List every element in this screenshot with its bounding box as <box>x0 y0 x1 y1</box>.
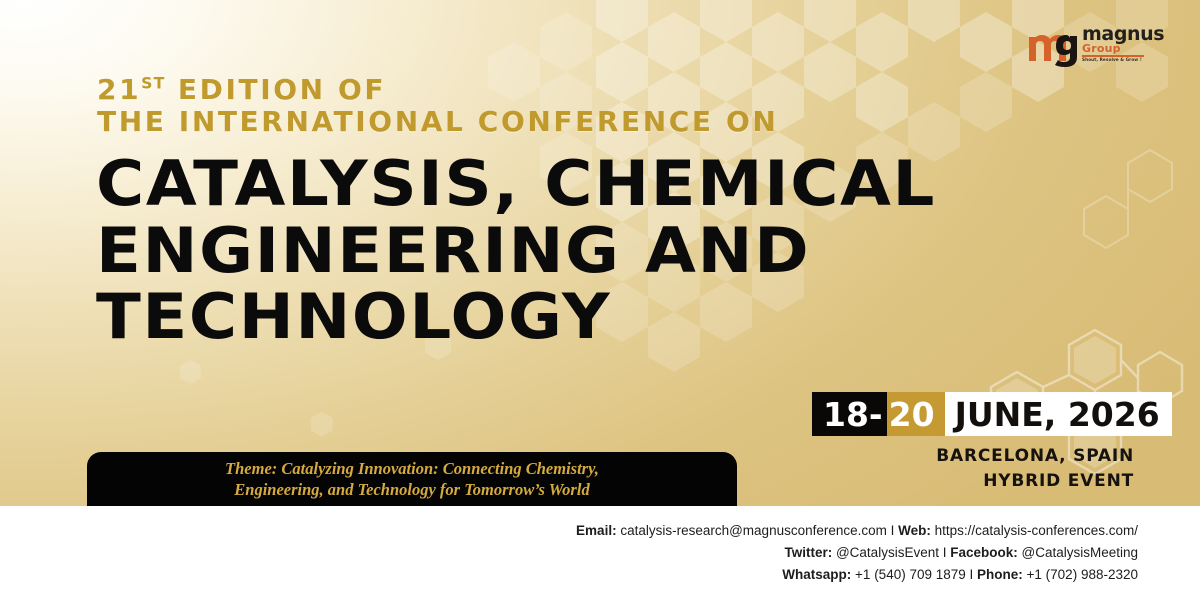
logo-subname: Group <box>1082 43 1164 54</box>
kicker-edition-number: 21 <box>97 73 141 106</box>
theme-text: Theme: Catalyzing Innovation: Connecting… <box>225 458 599 501</box>
web-value[interactable]: https://catalysis-conferences.com/ <box>931 523 1138 538</box>
event-date-block: 18- 20 JUNE, 2026 <box>812 392 1172 436</box>
phone-value[interactable]: +1 (702) 988-2320 <box>1023 567 1138 582</box>
whatsapp-value[interactable]: +1 (540) 709 1879 <box>851 567 965 582</box>
date-range-start: 18- <box>812 392 887 436</box>
event-format: HYBRID EVENT <box>936 469 1134 494</box>
mg-monogram-icon <box>1026 21 1078 67</box>
event-city-country: BARCELONA, SPAIN <box>936 444 1134 469</box>
theme-line-2: Engineering, and Technology for Tomorrow… <box>234 480 589 499</box>
twitter-value[interactable]: @CatalysisEvent <box>832 545 939 560</box>
title-line-2: ENGINEERING AND <box>96 222 936 280</box>
conference-kicker: 21ST EDITION OF THE INTERNATIONAL CONFER… <box>97 74 778 138</box>
conference-banner: 21ST EDITION OF THE INTERNATIONAL CONFER… <box>0 0 1200 600</box>
date-month-year: JUNE, 2026 <box>945 392 1172 436</box>
title-line-3: TECHNOLOGY <box>96 288 936 346</box>
whatsapp-label: Whatsapp: <box>782 567 851 582</box>
event-location-block: BARCELONA, SPAIN HYBRID EVENT <box>936 444 1134 493</box>
separator-2: I <box>939 545 950 560</box>
contact-line-email-web: Email: catalysis-research@magnusconferen… <box>0 520 1200 542</box>
email-label: Email: <box>576 523 617 538</box>
kicker-ordinal-suffix: ST <box>141 74 165 93</box>
separator-3: I <box>966 567 977 582</box>
kicker-line-2: THE INTERNATIONAL CONFERENCE ON <box>97 106 778 138</box>
logo-tagline: Shout, Resolve & Grow ! <box>1082 58 1164 62</box>
facebook-value[interactable]: @CatalysisMeeting <box>1018 545 1138 560</box>
theme-ribbon: Theme: Catalyzing Innovation: Connecting… <box>87 452 737 506</box>
date-range-end: 20 <box>887 392 945 436</box>
web-label: Web: <box>898 523 931 538</box>
contact-line-phone: Whatsapp: +1 (540) 709 1879 I Phone: +1 … <box>0 564 1200 586</box>
conference-title: CATALYSIS, CHEMICAL ENGINEERING AND TECH… <box>96 155 888 355</box>
separator-1: I <box>887 523 898 538</box>
title-line-1: CATALYSIS, CHEMICAL <box>96 155 936 213</box>
theme-line-1: Theme: Catalyzing Innovation: Connecting… <box>225 459 599 478</box>
contact-line-social: Twitter: @CatalysisEvent I Facebook: @Ca… <box>0 542 1200 564</box>
twitter-label: Twitter: <box>784 545 832 560</box>
contact-footer: Email: catalysis-research@magnusconferen… <box>0 506 1200 600</box>
magnus-group-logo[interactable]: magnus Group Shout, Resolve & Grow ! <box>1026 20 1184 68</box>
facebook-label: Facebook: <box>950 545 1018 560</box>
banner-stage: 21ST EDITION OF THE INTERNATIONAL CONFER… <box>0 0 1200 506</box>
kicker-line-1: 21ST EDITION OF <box>97 74 778 106</box>
phone-label: Phone: <box>977 567 1023 582</box>
kicker-edition-rest: EDITION OF <box>166 73 387 106</box>
email-value[interactable]: catalysis-research@magnusconference.com <box>617 523 887 538</box>
logo-wordmark: magnus Group Shout, Resolve & Grow ! <box>1082 25 1164 62</box>
